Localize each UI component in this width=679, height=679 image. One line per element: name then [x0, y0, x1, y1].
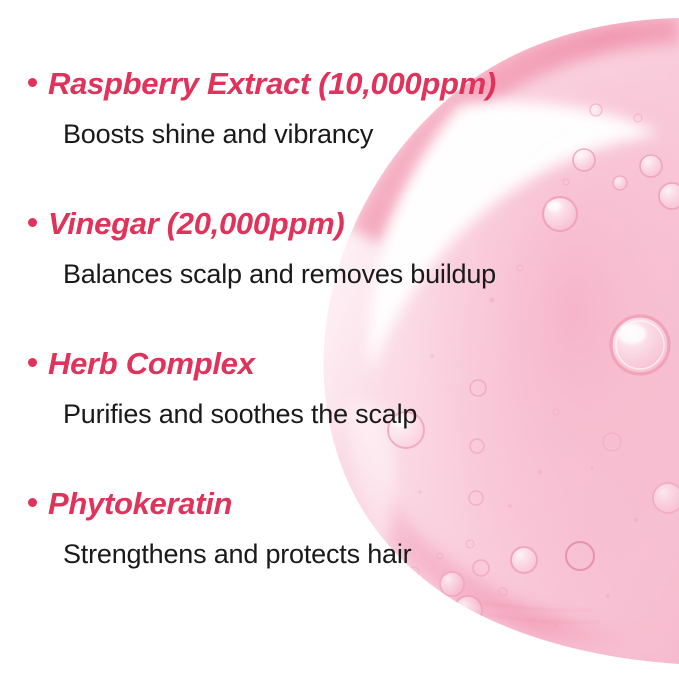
ingredient-name: Herb Complex — [48, 348, 255, 381]
ingredient-description: Purifies and soothes the scalp — [63, 399, 668, 430]
ingredient-heading-row: Phytokeratin — [28, 488, 668, 532]
ingredient-item: Herb Complex Purifies and soothes the sc… — [28, 348, 668, 430]
ingredient-name: Vinegar (20,000ppm) — [48, 208, 344, 241]
ingredient-name: Phytokeratin — [48, 488, 232, 521]
ingredient-item: Vinegar (20,000ppm) Balances scalp and r… — [28, 208, 668, 290]
ingredient-description: Strengthens and protects hair — [63, 539, 668, 570]
ingredient-item: Phytokeratin Strengthens and protects ha… — [28, 488, 668, 570]
ingredient-heading-row: Herb Complex — [28, 348, 668, 392]
bullet-dot-icon — [28, 218, 37, 227]
ingredient-list: Raspberry Extract (10,000ppm) Boosts shi… — [0, 0, 679, 679]
bullet-dot-icon — [28, 498, 37, 507]
bullet-dot-icon — [28, 78, 37, 87]
ingredient-item: Raspberry Extract (10,000ppm) Boosts shi… — [28, 68, 668, 150]
bullet-dot-icon — [28, 358, 37, 367]
product-ingredient-graphic: Raspberry Extract (10,000ppm) Boosts shi… — [0, 0, 679, 679]
ingredient-description: Boosts shine and vibrancy — [63, 119, 668, 150]
ingredient-heading-row: Raspberry Extract (10,000ppm) — [28, 68, 668, 112]
ingredient-name: Raspberry Extract (10,000ppm) — [48, 68, 496, 101]
ingredient-heading-row: Vinegar (20,000ppm) — [28, 208, 668, 252]
ingredient-description: Balances scalp and removes buildup — [63, 259, 668, 290]
